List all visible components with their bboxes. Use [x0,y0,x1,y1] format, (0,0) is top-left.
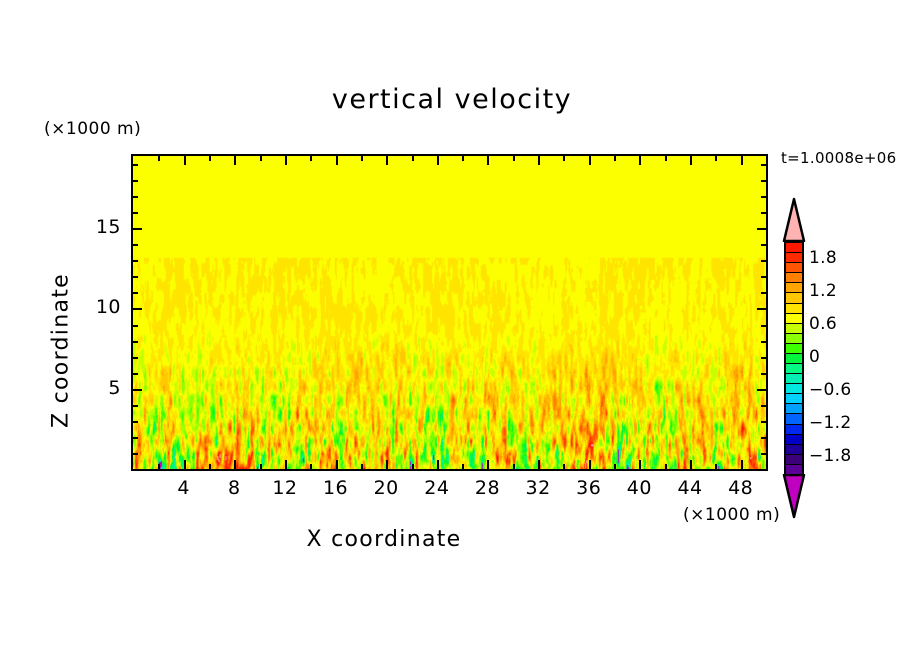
tick-mark [761,196,766,198]
tick-mark [761,373,766,375]
tick-mark [158,156,160,161]
colorbar-band-separator [784,464,804,465]
tick-mark [462,156,464,161]
tick-mark [715,156,717,161]
tick-mark [462,464,464,469]
colorbar-band [784,303,804,314]
tick-mark [133,196,138,198]
contour-plot-area [131,154,768,471]
tick-mark [133,308,142,310]
colorbar-band-separator [784,413,804,414]
tick-mark [589,156,591,165]
colorbar-band [784,464,804,475]
y-tick-label: 5 [75,377,121,399]
colorbar-band-separator [784,343,804,344]
tick-mark [761,453,766,455]
colorbar-band [784,393,804,404]
tick-mark [761,164,766,166]
colorbar-band-separator [784,242,804,243]
tick-mark [209,156,211,161]
y-tick-label: 10 [75,296,121,318]
tick-mark [757,308,766,310]
tick-mark [761,292,766,294]
tick-mark [761,405,766,407]
tick-mark [234,156,236,165]
y-tick-label: 15 [75,216,121,238]
tick-mark [336,460,338,469]
tick-mark [184,460,186,469]
tick-mark [741,460,743,469]
colorbar-band [784,363,804,374]
colorbar-band [784,282,804,293]
tick-mark [133,228,142,230]
tick-mark [260,156,262,161]
tick-mark [538,460,540,469]
figure-canvas: vertical velocity (×1000 m) t=1.0008e+06… [0,0,904,654]
tick-mark [133,180,138,182]
colorbar-band-separator [784,313,804,314]
tick-mark [285,156,287,165]
tick-mark [133,292,138,294]
colorbar-band-separator [784,303,804,304]
colorbar-band-separator [784,252,804,253]
tick-mark [386,460,388,469]
colorbar-band [784,343,804,354]
time-annotation: t=1.0008e+06 [781,149,896,167]
tick-mark [133,437,138,439]
colorbar-band-separator [784,292,804,293]
colorbar-band [784,454,804,465]
colorbar-band [784,383,804,394]
colorbar-band [784,242,804,253]
colorbar-band [784,292,804,303]
colorbar-band-separator [784,424,804,425]
colorbar-band-separator [784,373,804,374]
colorbar-band-separator [784,454,804,455]
tick-mark [133,341,138,343]
colorbar-band [784,444,804,455]
tick-mark [563,156,565,161]
x-tick-label: 48 [711,477,771,499]
tick-mark [133,357,138,359]
tick-mark [487,460,489,469]
colorbar-tick-label: −1.8 [809,446,851,466]
tick-mark [361,464,363,469]
tick-mark [715,464,717,469]
y-axis-unit-label: (×1000 m) [44,119,141,139]
x-axis-unit-label: (×1000 m) [683,505,780,525]
tick-mark [133,164,138,166]
tick-mark [538,156,540,165]
tick-mark [437,460,439,469]
tick-mark [234,460,236,469]
tick-mark [761,180,766,182]
colorbar-band-separator [784,353,804,354]
colorbar-band [784,424,804,435]
colorbar-band-separator [784,383,804,384]
tick-mark [690,460,692,469]
colorbar-band-separator [784,363,804,364]
colorbar-band [784,252,804,263]
tick-mark [133,276,138,278]
tick-mark [665,464,667,469]
tick-mark [133,405,138,407]
colorbar-under-range-arrow [781,474,807,519]
colorbar-band-separator [784,403,804,404]
tick-mark [690,156,692,165]
colorbar-band-separator [784,282,804,283]
colorbar-band-separator [784,323,804,324]
tick-mark [761,212,766,214]
tick-mark [487,156,489,165]
tick-mark [133,260,138,262]
colorbar-tick-label: 0.6 [809,314,837,334]
tick-mark [761,357,766,359]
colorbar-band [784,403,804,414]
tick-mark [133,244,138,246]
colorbar-band [784,272,804,283]
tick-mark [761,276,766,278]
colorbar-tick-label: −1.2 [809,413,851,433]
tick-mark [133,212,138,214]
tick-mark [761,341,766,343]
colorbar-band [784,323,804,334]
tick-mark [386,156,388,165]
colorbar-band [784,413,804,424]
tick-mark [412,464,414,469]
tick-mark [614,464,616,469]
colorbar-tick-label: 0 [809,347,820,367]
colorbar-band-separator [784,272,804,273]
tick-mark [757,228,766,230]
colorbar-band [784,262,804,273]
colorbar-band [784,313,804,324]
tick-mark [133,373,138,375]
colorbar-tick-label: 1.8 [809,248,837,268]
tick-mark [437,156,439,165]
tick-mark [761,421,766,423]
tick-mark [260,464,262,469]
colorbar-band [784,333,804,344]
tick-mark [310,464,312,469]
tick-mark [361,156,363,161]
tick-mark [513,464,515,469]
tick-mark [757,389,766,391]
tick-mark [184,156,186,165]
tick-mark [741,156,743,165]
colorbar-band [784,373,804,384]
tick-mark [614,156,616,161]
tick-mark [589,460,591,469]
tick-mark [513,156,515,161]
tick-mark [158,464,160,469]
colorbar-band-separator [784,393,804,394]
tick-mark [639,460,641,469]
tick-mark [761,325,766,327]
tick-mark [761,260,766,262]
tick-mark [133,389,142,391]
colorbar-band-separator [784,262,804,263]
x-axis-title: X coordinate [0,527,768,552]
tick-mark [336,156,338,165]
colorbar-tick-label: −0.6 [809,380,851,400]
colorbar-band [784,434,804,445]
tick-mark [761,244,766,246]
colorbar [781,197,807,519]
tick-mark [209,464,211,469]
tick-mark [412,156,414,161]
tick-mark [639,156,641,165]
chart-title: vertical velocity [0,84,904,115]
tick-mark [133,325,138,327]
colorbar-tick-label: 1.2 [809,281,837,301]
y-axis-title: Z coordinate [49,241,74,461]
tick-mark [310,156,312,161]
colorbar-band [784,353,804,364]
vertical-velocity-field [133,156,766,469]
colorbar-band-separator [784,474,804,475]
tick-mark [563,464,565,469]
colorbar-over-range-arrow [781,197,807,242]
tick-mark [133,421,138,423]
colorbar-band-separator [784,434,804,435]
colorbar-band-separator [784,444,804,445]
tick-mark [285,460,287,469]
tick-mark [761,437,766,439]
colorbar-band-separator [784,333,804,334]
tick-mark [665,156,667,161]
tick-mark [133,453,138,455]
